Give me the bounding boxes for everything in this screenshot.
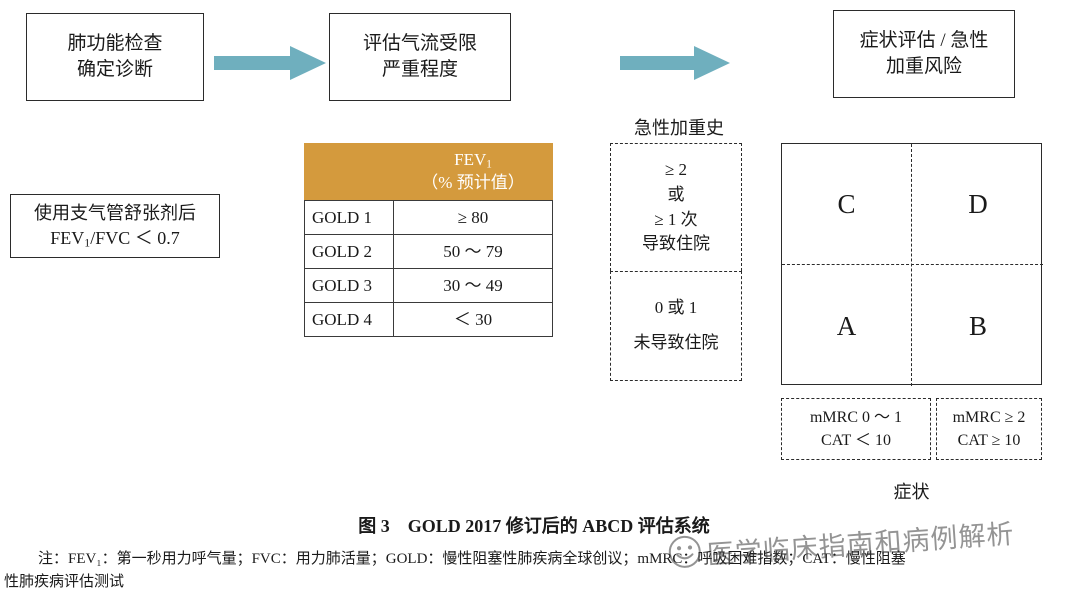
criteria-line-1: 使用支气管舒张剂后 [34,201,196,226]
table-row: GOLD 4 ＜ 30 [305,303,553,337]
gold-grade-3: GOLD 3 [305,269,394,303]
gold-table-header-fev: FEV1 （% 预计值） [394,144,553,201]
exacerbation-high-line-1: ≥ 2 [665,158,687,183]
flow-step-2-line-1: 评估气流受限 [363,31,477,57]
gold-table-body: GOLD 1 ≥ 80 GOLD 2 50 ～ 79 GOLD 3 30 ～ 4… [305,201,553,337]
exacerbation-axis-label: 急性加重史 [612,114,746,140]
exacerbation-low-line-2: 未导致住院 [634,331,719,356]
flow-step-1-line-1: 肺功能检查 [67,31,162,57]
symptom-high-line-1: mMRC ≥ 2 [953,406,1026,429]
gold-header-fev-line-1: FEV1 [398,149,548,172]
symptom-low-line-1: mMRC 0 ～ 1 [810,406,902,429]
flow-step-1-line-2: 确定诊断 [77,57,153,83]
quadrant-label-a: A [837,311,857,342]
gold-header-fev-line-2: （% 预计值） [398,172,548,194]
quadrant-label-c: C [837,189,855,220]
gold-grade-4: GOLD 4 [305,303,394,337]
gold-grade-1: GOLD 1 [305,201,394,235]
flow-step-1-box: 肺功能检查 确定诊断 [26,13,204,101]
gold-grade-2: GOLD 2 [305,235,394,269]
arrow-2-icon [620,46,730,80]
gold-table-header-blank [305,144,394,201]
flow-step-3-line-1: 症状评估 / 急性 [860,28,989,54]
table-row: GOLD 2 50 ～ 79 [305,235,553,269]
quadrant-horizontal-divider [782,264,1043,265]
symptom-low-box: mMRC 0 ～ 1 CAT ＜ 10 [781,398,931,460]
figure-note-line-1: 注：FEV₁：第一秒用力呼气量；FVC：用力肺活量；GOLD：慢性阻塞性肺疾病全… [4,551,906,567]
quadrant-vertical-divider [911,144,912,386]
exacerbation-high-box: ≥ 2 或 ≥ 1 次 导致住院 [610,143,742,271]
symptom-axis-label: 症状 [781,478,1042,504]
gold-value-1: ≥ 80 [394,201,553,235]
figure-notes: 注：FEV₁：第一秒用力呼气量；FVC：用力肺活量；GOLD：慢性阻塞性肺疾病全… [4,548,1064,595]
quadrant-cell-d: D [913,144,1043,264]
exacerbation-high-line-2: 或 [668,183,685,208]
exacerbation-high-line-3: ≥ 1 次 [654,208,697,233]
quadrant-label-d: D [968,189,988,220]
symptom-high-line-2: CAT ≥ 10 [958,429,1021,452]
criteria-line-2: FEV1/FVC ＜ 0.7 [50,226,179,251]
flow-step-2-box: 评估气流受限 严重程度 [329,13,511,101]
figure-note-line-2: 性肺疾病评估测试 [4,574,124,590]
exacerbation-low-line-1: 0 或 1 [655,296,698,321]
diagnostic-criteria-box: 使用支气管舒张剂后 FEV1/FVC ＜ 0.7 [10,194,220,258]
exacerbation-low-box: 0 或 1 未导致住院 [610,271,742,381]
figure-caption: 图 3 GOLD 2017 修订后的 ABCD 评估系统 [0,512,1068,538]
symptom-low-line-2: CAT ＜ 10 [821,429,891,452]
abcd-quadrant-grid: C D A B [781,143,1042,385]
exacerbation-high-line-4: 导致住院 [642,232,710,257]
gold-table-head: FEV1 （% 预计值） [305,144,553,201]
gold-table-header-row: FEV1 （% 预计值） [305,144,553,201]
flow-step-3-box: 症状评估 / 急性 加重风险 [833,10,1015,98]
arrow-1-icon [214,46,326,80]
quadrant-label-b: B [969,311,987,342]
gold-value-3: 30 ～ 49 [394,269,553,303]
figure-canvas: 肺功能检查 确定诊断 评估气流受限 严重程度 症状评估 / 急性 加重风险 使用… [0,0,1068,594]
quadrant-cell-b: B [913,266,1043,386]
flow-step-2-line-2: 严重程度 [382,57,458,83]
symptom-high-box: mMRC ≥ 2 CAT ≥ 10 [936,398,1042,460]
gold-value-2: 50 ～ 79 [394,235,553,269]
table-row: GOLD 3 30 ～ 49 [305,269,553,303]
gold-severity-table: FEV1 （% 预计值） GOLD 1 ≥ 80 GOLD 2 50 ～ 79 … [304,143,553,337]
quadrant-cell-a: A [782,266,911,386]
gold-value-4: ＜ 30 [394,303,553,337]
quadrant-cell-c: C [782,144,911,264]
table-row: GOLD 1 ≥ 80 [305,201,553,235]
flow-step-3-line-2: 加重风险 [886,54,962,80]
